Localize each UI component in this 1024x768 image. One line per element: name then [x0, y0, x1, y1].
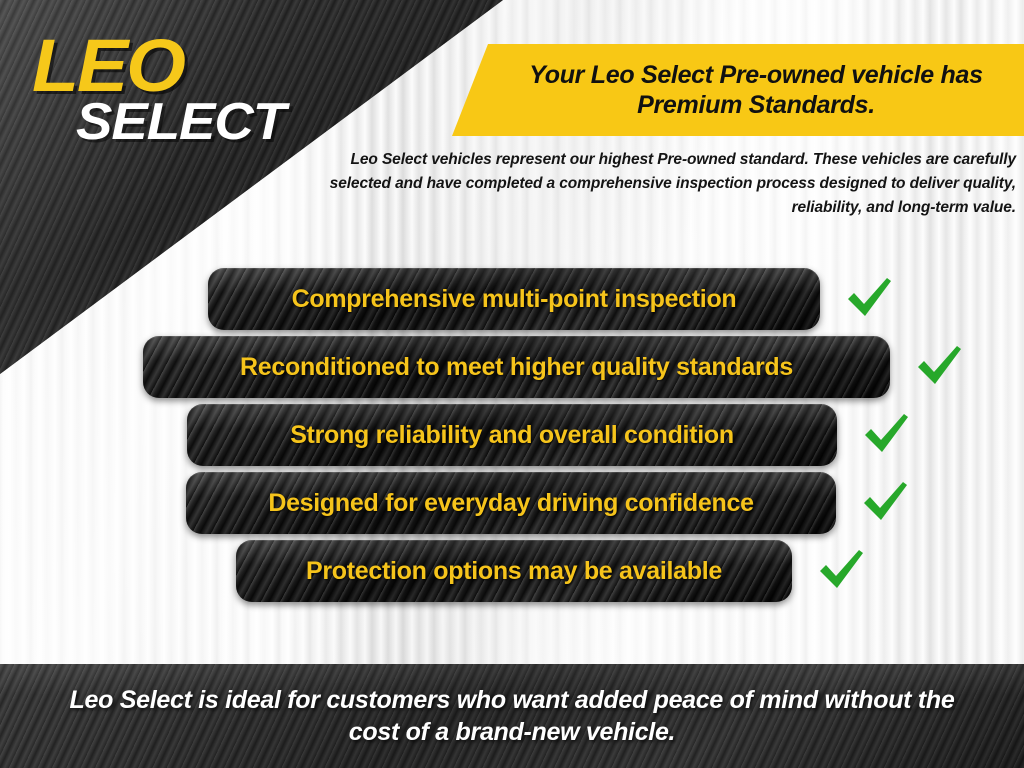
headline-text: Your Leo Select Pre-owned vehicle has Pr… [452, 60, 1024, 121]
green-check-icon [859, 408, 913, 462]
feature-pill-label: Protection options may be available [306, 557, 722, 586]
feature-pill-label: Reconditioned to meet higher quality sta… [240, 353, 793, 382]
feature-pill-label: Comprehensive multi-point inspection [292, 285, 737, 314]
feature-row: Strong reliability and overall condition [187, 404, 1024, 466]
feature-pill-label: Strong reliability and overall condition [290, 421, 734, 450]
leo-select-promo-graphic: LEO SELECT Your Leo Select Pre-owned veh… [0, 0, 1024, 768]
feature-pill-label: Designed for everyday driving confidence [268, 489, 753, 518]
headline-banner: Your Leo Select Pre-owned vehicle has Pr… [452, 44, 1024, 136]
feature-row: Reconditioned to meet higher quality sta… [143, 336, 1024, 398]
green-check-icon [912, 340, 966, 394]
intro-paragraph: Leo Select vehicles represent our highes… [306, 148, 1016, 221]
feature-row: Protection options may be available [236, 540, 1024, 602]
logo-word-select: SELECT [76, 101, 285, 144]
brand-logo: LEO SELECT [32, 36, 275, 143]
green-check-icon [842, 272, 896, 326]
feature-pill[interactable]: Reconditioned to meet higher quality sta… [143, 336, 890, 398]
feature-pill[interactable]: Strong reliability and overall condition [187, 404, 837, 466]
green-check-icon [814, 544, 868, 598]
green-check-icon [858, 476, 912, 530]
footer-text: Leo Select is ideal for customers who wa… [62, 684, 962, 749]
feature-row: Comprehensive multi-point inspection [208, 268, 1024, 330]
feature-pill[interactable]: Protection options may be available [236, 540, 792, 602]
feature-pill[interactable]: Designed for everyday driving confidence [186, 472, 836, 534]
logo-word-leo: LEO [32, 36, 285, 97]
footer-banner: Leo Select is ideal for customers who wa… [0, 664, 1024, 768]
feature-pill[interactable]: Comprehensive multi-point inspection [208, 268, 820, 330]
feature-row: Designed for everyday driving confidence [186, 472, 1024, 534]
feature-list: Comprehensive multi-point inspection Rec… [0, 268, 1024, 608]
